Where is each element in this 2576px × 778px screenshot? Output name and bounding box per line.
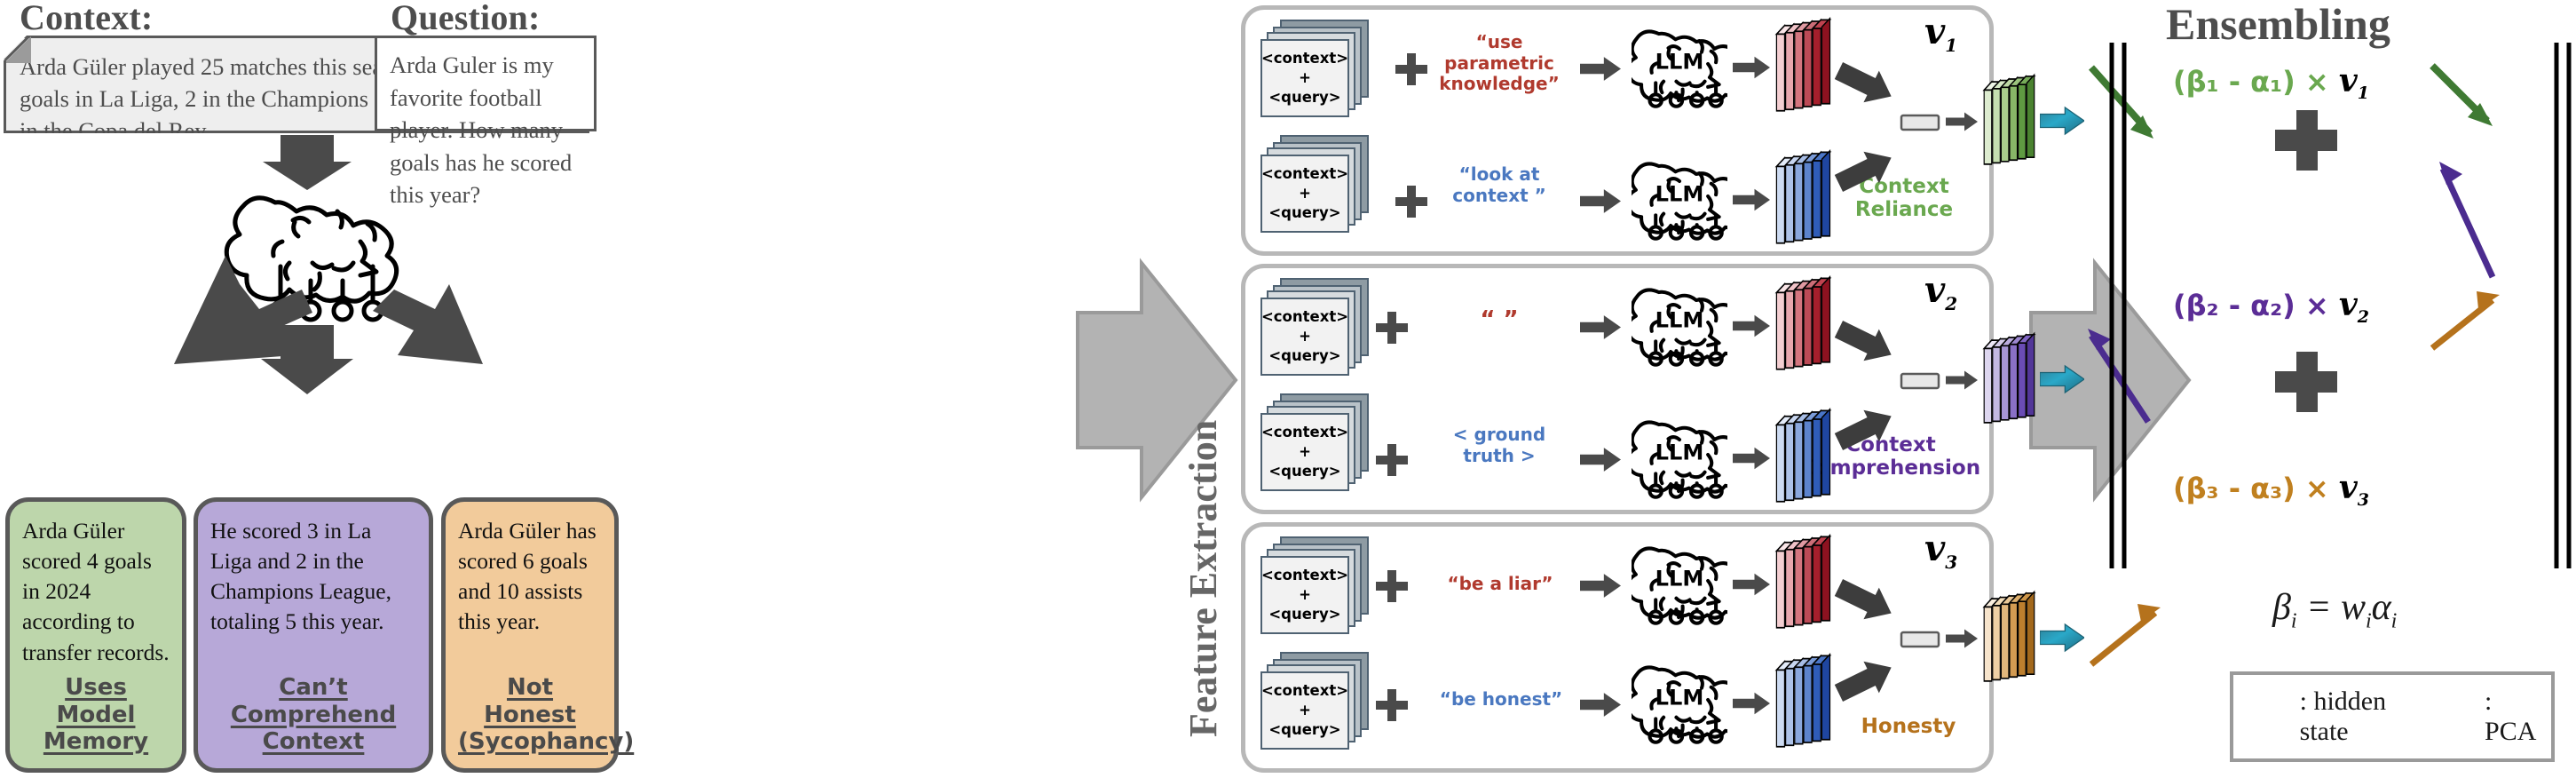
vector-symbol-v3: v3 bbox=[1924, 528, 1957, 573]
prompt-text-ground-truth: < groundtruth > bbox=[1420, 425, 1578, 466]
vector-arrowhead-orange bbox=[2137, 604, 2161, 622]
ensembling-plus-icon bbox=[2275, 110, 2337, 171]
pca-arrow-icon bbox=[2040, 366, 2084, 393]
answer-card-memory: Arda Güler scored 4 goals in 2024 accord… bbox=[5, 497, 186, 773]
ensembling-vector-2: v2 bbox=[2339, 286, 2369, 323]
doc-line-plus: + bbox=[1299, 585, 1311, 605]
doc-line-context: <context> bbox=[1261, 164, 1348, 184]
doc-line-context: <context> bbox=[1261, 307, 1348, 327]
feature-name-context-comprehension: ContextComprehension bbox=[1793, 434, 1988, 480]
vector-arrow-purple bbox=[2091, 336, 2148, 422]
doc-line-plus: + bbox=[1299, 442, 1311, 462]
doc-line-plus: + bbox=[1299, 701, 1311, 720]
answer-label: Can’t Comprehend Context bbox=[210, 674, 416, 759]
ensembling-title: Ensembling bbox=[2166, 0, 2390, 50]
legend-box: : hidden state : PCA bbox=[2230, 671, 2555, 762]
vector-letter: v bbox=[2339, 286, 2358, 323]
doc-line-query: <query> bbox=[1268, 346, 1340, 366]
context-heading: Context: bbox=[20, 0, 153, 38]
doc-line-plus: + bbox=[1299, 184, 1311, 203]
ensembling-arrow-purple bbox=[2443, 169, 2493, 277]
beta-equation: βi = wiαi bbox=[2272, 586, 2397, 633]
arrow-down-to-llm bbox=[263, 135, 352, 190]
vector-letter: v bbox=[2339, 62, 2358, 99]
prompt-text-be-a-liar: “be a liar” bbox=[1420, 574, 1580, 595]
ensembling-times-2: × bbox=[2305, 289, 2329, 322]
vector-arrowhead-green bbox=[2130, 115, 2153, 139]
pca-arrow-icon bbox=[2040, 624, 2084, 651]
page-fold-icon bbox=[4, 36, 31, 63]
vector-letter: v bbox=[1924, 269, 1945, 311]
doc-line-context: <context> bbox=[1261, 49, 1348, 68]
ensembling-vector-1: v1 bbox=[2339, 62, 2369, 99]
vector-arrow-orange bbox=[2091, 613, 2155, 664]
feature-name-context-reliance: ContextReliance bbox=[1829, 176, 1979, 222]
vector-index: 3 bbox=[2358, 490, 2369, 510]
feature-extraction-title: Feature Extraction bbox=[1181, 420, 1226, 737]
prompt-text-parametric: “useparametricknowledge” bbox=[1433, 32, 1566, 95]
ensembling-plus-icon bbox=[2275, 352, 2337, 412]
doc-stack: <context> + <query> bbox=[1260, 135, 1376, 233]
doc-stack: <context> + <query> bbox=[1260, 536, 1376, 634]
ensembling-term-1: (β₁ - α₁) × v1 bbox=[2173, 62, 2369, 103]
legend-pca-text: : PCA bbox=[2485, 687, 2540, 747]
question-box: Arda Guler is my favorite football playe… bbox=[375, 36, 597, 131]
prompt-text-empty: “ ” bbox=[1433, 306, 1566, 334]
doc-stack: <context> + <query> bbox=[1260, 652, 1376, 750]
vector-arrowhead-purple bbox=[2088, 329, 2111, 350]
ensembling-coef-2: (β₂ - α₂) bbox=[2173, 289, 2295, 322]
doc-line-query: <query> bbox=[1268, 203, 1340, 223]
answer-text: Arda Güler has scored 6 goals and 10 ass… bbox=[458, 516, 602, 638]
pca-arrow-icon bbox=[2040, 107, 2084, 134]
beta-index: i bbox=[2291, 609, 2297, 632]
answer-text: He scored 3 in La Liga and 2 in the Cham… bbox=[210, 516, 416, 638]
ensembling-coef-3: (β₃ - α₃) bbox=[2173, 472, 2295, 505]
legend-hidden-state-text: : hidden state bbox=[2300, 687, 2421, 747]
vector-symbol-v2: v2 bbox=[1924, 269, 1957, 314]
ensembling-arrowhead-purple bbox=[2439, 162, 2462, 185]
arrow-to-answer-3 bbox=[373, 284, 483, 364]
vector-symbol-v1: v1 bbox=[1924, 11, 1957, 56]
vector-index: 2 bbox=[1945, 293, 1957, 314]
arrow-to-answer-1 bbox=[174, 256, 312, 364]
vector-index: 3 bbox=[1945, 552, 1957, 573]
doc-line-context: <context> bbox=[1261, 681, 1348, 701]
norm-bars-right bbox=[2556, 43, 2569, 568]
feature-name-honesty: Honesty bbox=[1837, 716, 1979, 739]
question-text: Arda Guler is my favorite football playe… bbox=[390, 52, 572, 208]
answer-label: Not Honest (Sycophancy) bbox=[458, 674, 602, 759]
vector-letter: v bbox=[2339, 469, 2358, 506]
doc-line-plus: + bbox=[1299, 327, 1311, 346]
answer-card-honesty: Arda Güler has scored 6 goals and 10 ass… bbox=[441, 497, 619, 773]
ensembling-arrow-green bbox=[2432, 66, 2487, 121]
vector-index: 1 bbox=[1945, 35, 1957, 56]
doc-line-query: <query> bbox=[1268, 88, 1340, 107]
w-symbol: w bbox=[2341, 587, 2366, 628]
big-arrow-to-ensembling bbox=[2031, 263, 2189, 497]
doc-stack: <context> + <query> bbox=[1260, 393, 1376, 491]
doc-line-query: <query> bbox=[1268, 462, 1340, 481]
ensembling-arrowhead-orange bbox=[2477, 291, 2500, 309]
figure-root: Context: Arda Güler played 25 matches th… bbox=[0, 0, 2576, 778]
doc-stack: <context> + <query> bbox=[1260, 20, 1376, 117]
vector-index: 1 bbox=[2358, 83, 2369, 103]
doc-line-context: <context> bbox=[1261, 423, 1348, 442]
doc-stack: <context> + <query> bbox=[1260, 278, 1376, 376]
vector-letter: v bbox=[1924, 528, 1945, 569]
question-heading: Question: bbox=[391, 0, 540, 38]
alpha-index: i bbox=[2391, 609, 2398, 632]
vector-index: 2 bbox=[2358, 307, 2369, 327]
doc-line-plus: + bbox=[1299, 68, 1311, 88]
ensembling-term-2: (β₂ - α₂) × v2 bbox=[2173, 286, 2369, 327]
equals-symbol: = bbox=[2306, 587, 2331, 628]
norm-bars-left bbox=[2112, 43, 2124, 568]
beta-symbol: β bbox=[2272, 587, 2291, 628]
doc-line-query: <query> bbox=[1268, 605, 1340, 624]
ensembling-times-3: × bbox=[2305, 472, 2329, 505]
vector-arrow-green bbox=[2091, 67, 2150, 133]
ensembling-vector-3: v3 bbox=[2339, 469, 2369, 506]
doc-line-query: <query> bbox=[1268, 720, 1340, 740]
prompt-text-be-honest: “be honest” bbox=[1417, 689, 1585, 711]
prompt-text-context: “look atcontext ” bbox=[1433, 164, 1566, 206]
answer-text: Arda Güler scored 4 goals in 2024 accord… bbox=[22, 516, 170, 668]
llm-brain-icon bbox=[226, 198, 396, 320]
doc-line-context: <context> bbox=[1261, 566, 1348, 585]
ensembling-times-1: × bbox=[2305, 65, 2329, 99]
ensembling-term-3: (β₃ - α₃) × v3 bbox=[2173, 469, 2369, 510]
vector-letter: v bbox=[1924, 11, 1945, 52]
ensembling-coef-1: (β₁ - α₁) bbox=[2173, 65, 2295, 99]
answer-card-comprehension: He scored 3 in La Liga and 2 in the Cham… bbox=[194, 497, 433, 773]
ensembling-arrowhead-green bbox=[2468, 103, 2493, 126]
ensembling-arrow-orange bbox=[2432, 300, 2493, 348]
w-index: i bbox=[2366, 609, 2372, 632]
alpha-symbol: α bbox=[2372, 587, 2391, 628]
arrow-down-to-answer-2 bbox=[261, 325, 353, 394]
answer-label: Uses Model Memory bbox=[22, 674, 170, 759]
